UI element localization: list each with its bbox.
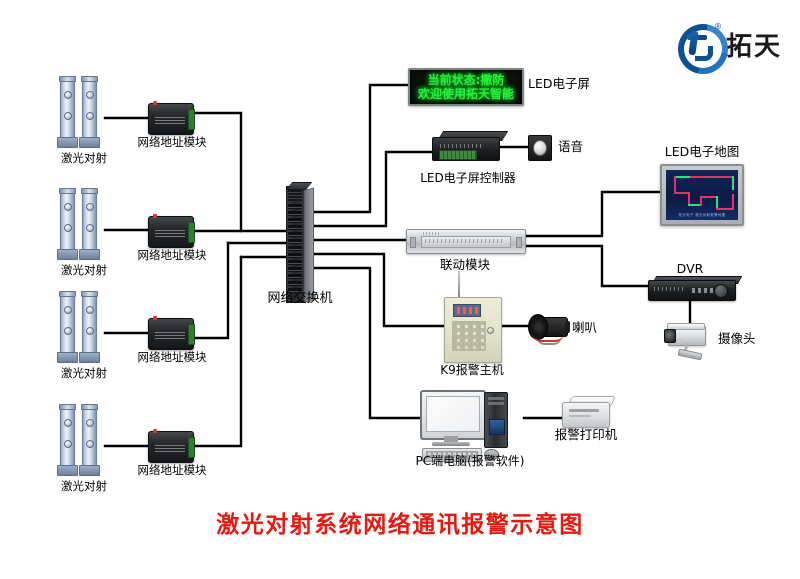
registered-mark: ® — [714, 22, 722, 31]
led-electronic-map[interactable]: 拓天电子 激光对射报警地图 — [660, 164, 744, 226]
laser-beam-pair-3[interactable] — [60, 293, 106, 363]
laser-beam-pair-4[interactable] — [60, 406, 106, 476]
network-address-module-3[interactable] — [148, 318, 194, 350]
laser-beam-pair-2[interactable] — [60, 190, 106, 260]
printer-label: 报警打印机 — [555, 428, 618, 442]
brand-name: 拓天 — [726, 26, 782, 63]
horn-label: 喇叭 — [572, 321, 597, 335]
led-display-screen[interactable]: 当前状态:撤防 欢迎使用拓天智能 — [408, 68, 524, 106]
linkage-module[interactable] — [406, 229, 526, 254]
led-screen-line-2: 欢迎使用拓天智能 — [418, 87, 514, 101]
linkage-module-label: 联动模块 — [440, 258, 490, 272]
network-address-module-1[interactable] — [148, 103, 194, 135]
led-screen-controller[interactable] — [432, 131, 498, 161]
address-module-label-4: 网络地址模块 — [138, 464, 207, 477]
network-switch[interactable] — [286, 186, 312, 301]
diagram-title: 激光对射系统网络通讯报警示意图 — [216, 505, 584, 539]
security-camera[interactable] — [664, 326, 716, 360]
tuotian-emblem-icon: ® — [676, 22, 720, 66]
laser-label-3: 激光对射 — [61, 367, 107, 380]
address-module-label-1: 网络地址模块 — [138, 136, 207, 149]
camera-label: 摄像头 — [718, 332, 756, 346]
dvr-recorder[interactable] — [648, 276, 734, 300]
speaker-driver-icon — [533, 140, 547, 156]
alarm-printer[interactable] — [562, 396, 608, 428]
k9-alarm-host[interactable] — [444, 297, 500, 361]
laser-beam-pair-1[interactable] — [60, 78, 106, 148]
network-address-module-2[interactable] — [148, 216, 194, 248]
dvr-label: DVR — [677, 262, 704, 276]
led-map-screen: 拓天电子 激光对射报警地图 — [666, 170, 738, 220]
voice-speaker-module[interactable] — [528, 135, 552, 161]
led-screen-line-1: 当前状态:撤防 — [428, 73, 505, 87]
alarm-host-label: K9报警主机 — [440, 364, 504, 377]
pc-workstation[interactable] — [420, 390, 524, 462]
diagram-canvas: ® 拓天 激光对射 网络地址模块 激光对射 网络地址模块 激光对射 网络地址模块… — [0, 0, 800, 579]
led-controller-label: LED电子屏控制器 — [420, 172, 516, 185]
tower-icon — [484, 392, 508, 448]
laser-label-4: 激光对射 — [61, 480, 107, 493]
brand-logo: ® 拓天 — [676, 22, 782, 66]
address-module-label-3: 网络地址模块 — [138, 351, 207, 364]
address-module-label-2: 网络地址模块 — [138, 249, 207, 262]
led-screen-label: LED电子屏 — [528, 77, 590, 91]
laser-label-1: 激光对射 — [61, 152, 107, 165]
laser-label-2: 激光对射 — [61, 264, 107, 277]
horn-speaker[interactable] — [528, 312, 574, 342]
pc-label: PC端电脑(报警软件) — [416, 455, 525, 468]
led-map-label: LED电子地图 — [665, 145, 740, 159]
network-switch-label: 网络交换机 — [267, 292, 332, 306]
led-map-caption: 拓天电子 激光对射报警地图 — [666, 213, 738, 218]
monitor-icon — [420, 390, 486, 440]
voice-label: 语音 — [558, 140, 583, 154]
network-address-module-4[interactable] — [148, 431, 194, 463]
antenna-icon — [458, 271, 460, 299]
